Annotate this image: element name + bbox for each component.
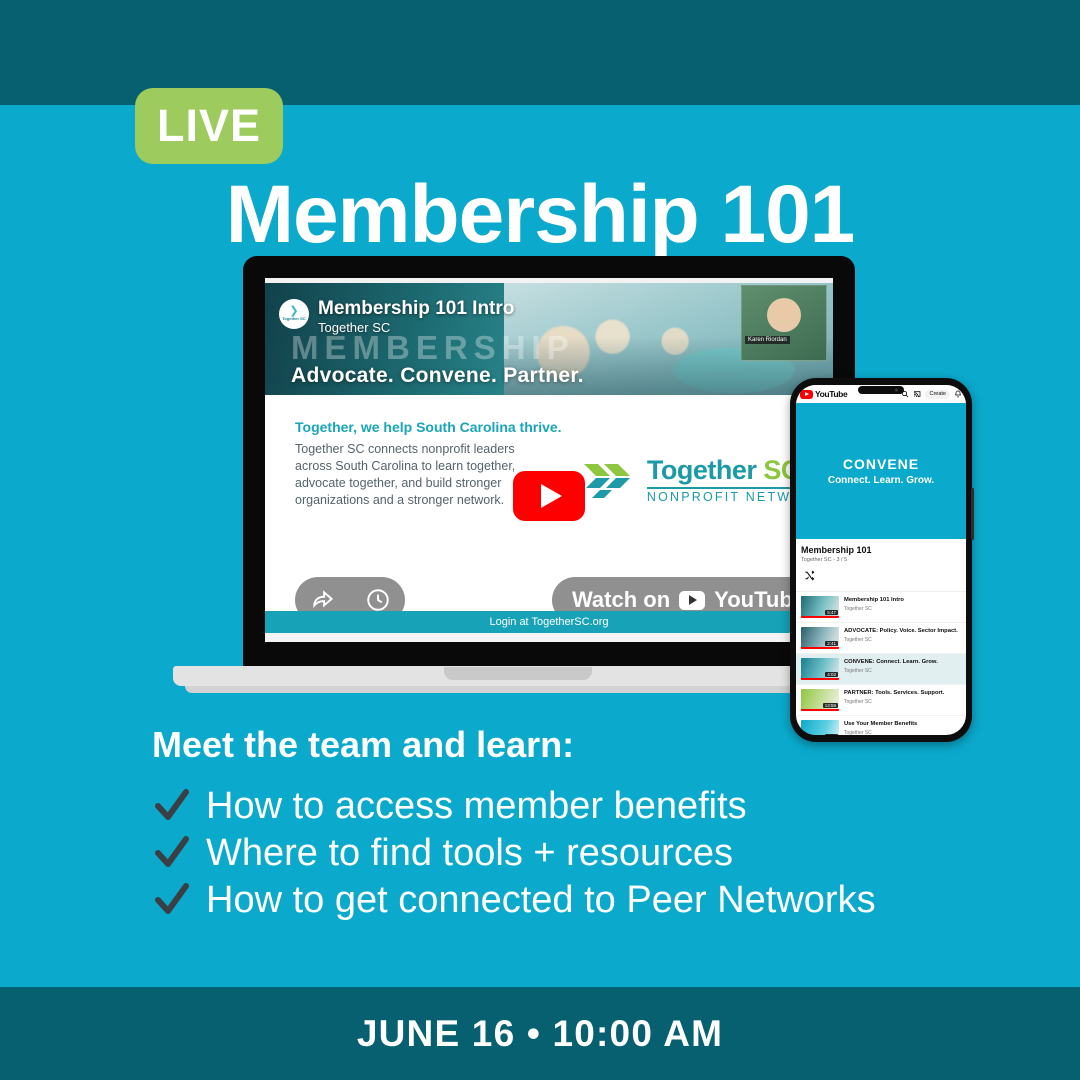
video-white-footer	[265, 633, 833, 642]
phone-camera-dot	[895, 389, 898, 392]
youtube-icon	[679, 591, 705, 610]
notifications-button[interactable]: 9	[954, 385, 962, 403]
bottom-band: JUNE 16 • 10:00 AM	[0, 987, 1080, 1080]
topbar-icons: Create 9	[901, 385, 962, 403]
live-badge: LIVE	[135, 88, 283, 164]
list-item[interactable]: 13:59 PARTNER: Tools. Services. Support.…	[796, 685, 966, 716]
phone-video-player[interactable]: CONVENE Connect. Learn. Grow.	[796, 403, 966, 539]
shuffle-icon	[804, 570, 815, 581]
video-duration: 4:02	[825, 672, 838, 677]
video-controls: Watch on YouTube Login at TogetherSC.org	[265, 571, 833, 633]
list-item[interactable]: 4:02 CONVENE: Connect. Learn. Grow. Toge…	[796, 654, 966, 685]
video-channel: Together SC	[844, 668, 938, 674]
video-channel: Together SC	[844, 637, 958, 643]
checklist-item: How to get connected to Peer Networks	[152, 876, 876, 923]
checklist-item: How to access member benefits	[152, 782, 876, 829]
search-icon[interactable]	[901, 390, 909, 398]
video-duration: 13:59	[823, 703, 838, 708]
hero-inset-speaker: Karen Riordan	[741, 285, 827, 361]
video-channel: Together SC	[844, 730, 917, 735]
phone-mockup: YouTube Create 9	[790, 378, 972, 742]
speaker-face	[767, 298, 801, 332]
video-thumbnail: 2:41	[801, 627, 839, 649]
together-sc-logo: Together SC NONPROFIT NETWORK	[582, 457, 825, 504]
slide-footer-text: Login at TogetherSC.org	[489, 616, 608, 628]
youtube-wordmark: YouTube	[815, 389, 847, 399]
play-button[interactable]	[513, 471, 585, 521]
video-hero: Karen Riordan MEMBERSHIP ❯ Together SC M…	[265, 283, 833, 395]
clock-icon[interactable]	[365, 587, 391, 613]
slide-body: Together, we help South Carolina thrive.…	[265, 395, 833, 571]
share-icon[interactable]	[310, 587, 336, 613]
laptop-base-notch	[444, 667, 592, 680]
video-title: ADVOCATE: Policy. Voice. Sector Impact.	[844, 627, 958, 635]
progress-bar	[801, 616, 839, 618]
checklist: How to access member benefits Where to f…	[152, 782, 876, 923]
phone-video-subtitle: Connect. Learn. Grow.	[828, 475, 934, 486]
list-item[interactable]: 5:47 Membership 101 Intro Together SC	[796, 592, 966, 623]
video-thumbnail: 5:47	[801, 596, 839, 618]
video-title: Membership 101 Intro	[844, 596, 904, 604]
youtube-icon	[800, 390, 813, 399]
video-title: CONVENE: Connect. Learn. Grow.	[844, 658, 938, 666]
page-title: Membership 101	[0, 168, 1080, 262]
video-title: PARTNER: Tools. Services. Support.	[844, 689, 944, 697]
video-title: Membership 101 Intro	[318, 299, 514, 319]
phone-notch	[858, 386, 904, 394]
chevron-mark-icon: ❯	[289, 307, 298, 316]
video-thumbnail: 13:59	[801, 689, 839, 711]
check-icon	[152, 833, 192, 873]
list-item[interactable]: 6:30 Use Your Member Benefits Together S…	[796, 716, 966, 735]
shuffle-button[interactable]	[796, 565, 966, 591]
progress-bar	[801, 647, 839, 649]
video-tagline: Advocate. Convene. Partner.	[291, 364, 584, 388]
cast-icon[interactable]	[913, 390, 921, 398]
video-title: Use Your Member Benefits	[844, 720, 917, 728]
phone-side-button	[971, 488, 974, 540]
channel-avatar: ❯ Together SC	[279, 299, 309, 329]
progress-bar	[801, 678, 839, 680]
playlist-meta: Together SC - 3 / 5	[801, 557, 961, 563]
video-channel: Together SC	[318, 319, 514, 337]
speaker-name-label: Karen Riordan	[745, 336, 790, 344]
slide-heading: Together, we help South Carolina thrive.	[295, 419, 562, 435]
create-button[interactable]: Create	[925, 390, 950, 399]
phone-video-title: CONVENE	[843, 456, 919, 472]
video-duration: 6:30	[825, 734, 838, 735]
progress-bar	[801, 709, 839, 711]
checklist-item-label: How to get connected to Peer Networks	[206, 878, 876, 922]
notification-badge: 9	[958, 385, 965, 389]
slide-footer-bar: Login at TogetherSC.org	[265, 611, 833, 633]
playlist-header: Membership 101 Together SC - 3 / 5	[796, 539, 966, 565]
laptop-base-lip	[185, 686, 851, 693]
list-item[interactable]: 2:41 ADVOCATE: Policy. Voice. Sector Imp…	[796, 623, 966, 654]
laptop-screen: Karen Riordan MEMBERSHIP ❯ Together SC M…	[265, 278, 833, 642]
checklist-item: Where to find tools + resources	[152, 829, 876, 876]
event-datetime: JUNE 16 • 10:00 AM	[357, 1013, 723, 1055]
youtube-app-topbar: YouTube Create 9	[796, 385, 966, 403]
video-thumbnail: 4:02	[801, 658, 839, 680]
video-channel: Together SC	[844, 606, 904, 612]
video-thumbnail: 6:30	[801, 720, 839, 735]
playlist-items: 5:47 Membership 101 Intro Together SC 2:…	[796, 591, 966, 735]
video-duration: 5:47	[825, 610, 838, 615]
avatar-label: Together SC	[282, 316, 305, 321]
youtube-logo[interactable]: YouTube	[800, 389, 847, 399]
video-duration: 2:41	[825, 641, 838, 646]
video-header-row: ❯ Together SC Membership 101 Intro Toget…	[279, 299, 514, 337]
check-icon	[152, 786, 192, 826]
checklist-item-label: How to access member benefits	[206, 784, 747, 828]
chevron-mark-icon	[582, 460, 638, 500]
play-icon	[541, 484, 562, 508]
live-badge-label: LIVE	[157, 100, 261, 152]
slide-paragraph: Together SC connects nonprofit leaders a…	[295, 441, 535, 509]
bell-icon	[954, 390, 962, 398]
create-label: Create	[929, 391, 946, 397]
checklist-heading: Meet the team and learn:	[152, 724, 574, 766]
logo-name-together: Together	[647, 455, 757, 485]
check-icon	[152, 880, 192, 920]
phone-screen: YouTube Create 9	[796, 385, 966, 735]
laptop-lid: Karen Riordan MEMBERSHIP ❯ Together SC M…	[243, 256, 855, 672]
playlist-title: Membership 101	[801, 545, 961, 555]
watch-on-label: Watch on	[572, 587, 670, 613]
laptop-mockup: Karen Riordan MEMBERSHIP ❯ Together SC M…	[173, 256, 863, 686]
checklist-item-label: Where to find tools + resources	[206, 831, 733, 875]
video-channel: Together SC	[844, 699, 944, 705]
